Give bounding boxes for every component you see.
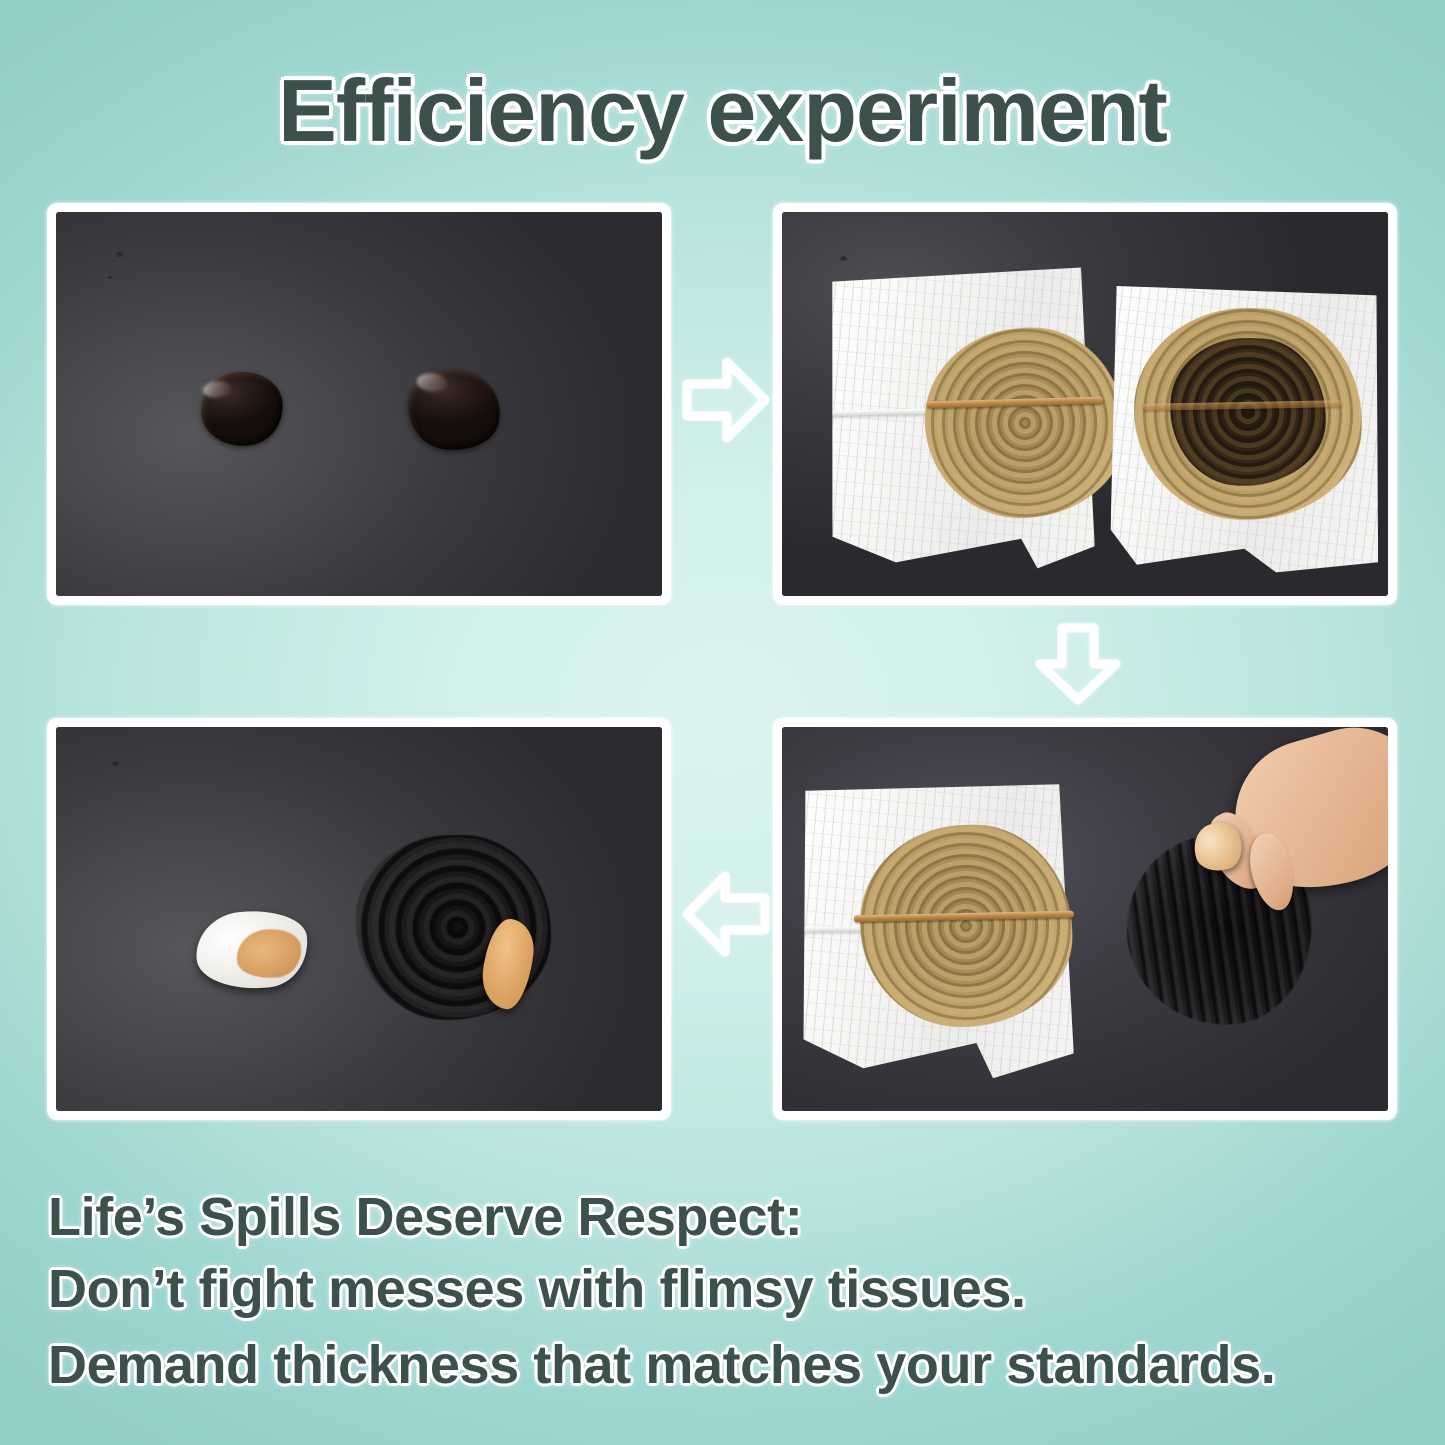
arrow-left-icon <box>681 866 771 962</box>
photo-panel-step-3 <box>773 718 1397 1120</box>
photo-spills-on-table <box>56 212 662 596</box>
caption-line-3: Demand thickness that matches your stand… <box>48 1334 1408 1396</box>
caption-line-2: Don’t fight messes with flimsy tissues. <box>48 1258 1408 1320</box>
infographic-canvas: Efficiency experiment <box>0 0 1445 1445</box>
photo-panel-step-2 <box>773 203 1397 605</box>
photo-napkins-absorbing <box>782 212 1388 596</box>
photo-panel-step-4 <box>47 718 671 1120</box>
photo-hand-wiping <box>782 727 1388 1111</box>
surface-speck <box>112 761 119 766</box>
surface-speck <box>108 276 112 279</box>
photo-used-tissues-result <box>56 727 662 1111</box>
page-title: Efficiency experiment <box>0 60 1445 162</box>
arrow-right-icon <box>681 352 771 448</box>
table-surface <box>56 212 662 596</box>
surface-speck <box>116 252 123 257</box>
photo-panel-step-1 <box>47 203 671 605</box>
caption-line-1: Life’s Spills Deserve Respect: <box>48 1186 1408 1248</box>
surface-speck <box>840 256 847 261</box>
arrow-down-icon <box>1032 622 1124 708</box>
